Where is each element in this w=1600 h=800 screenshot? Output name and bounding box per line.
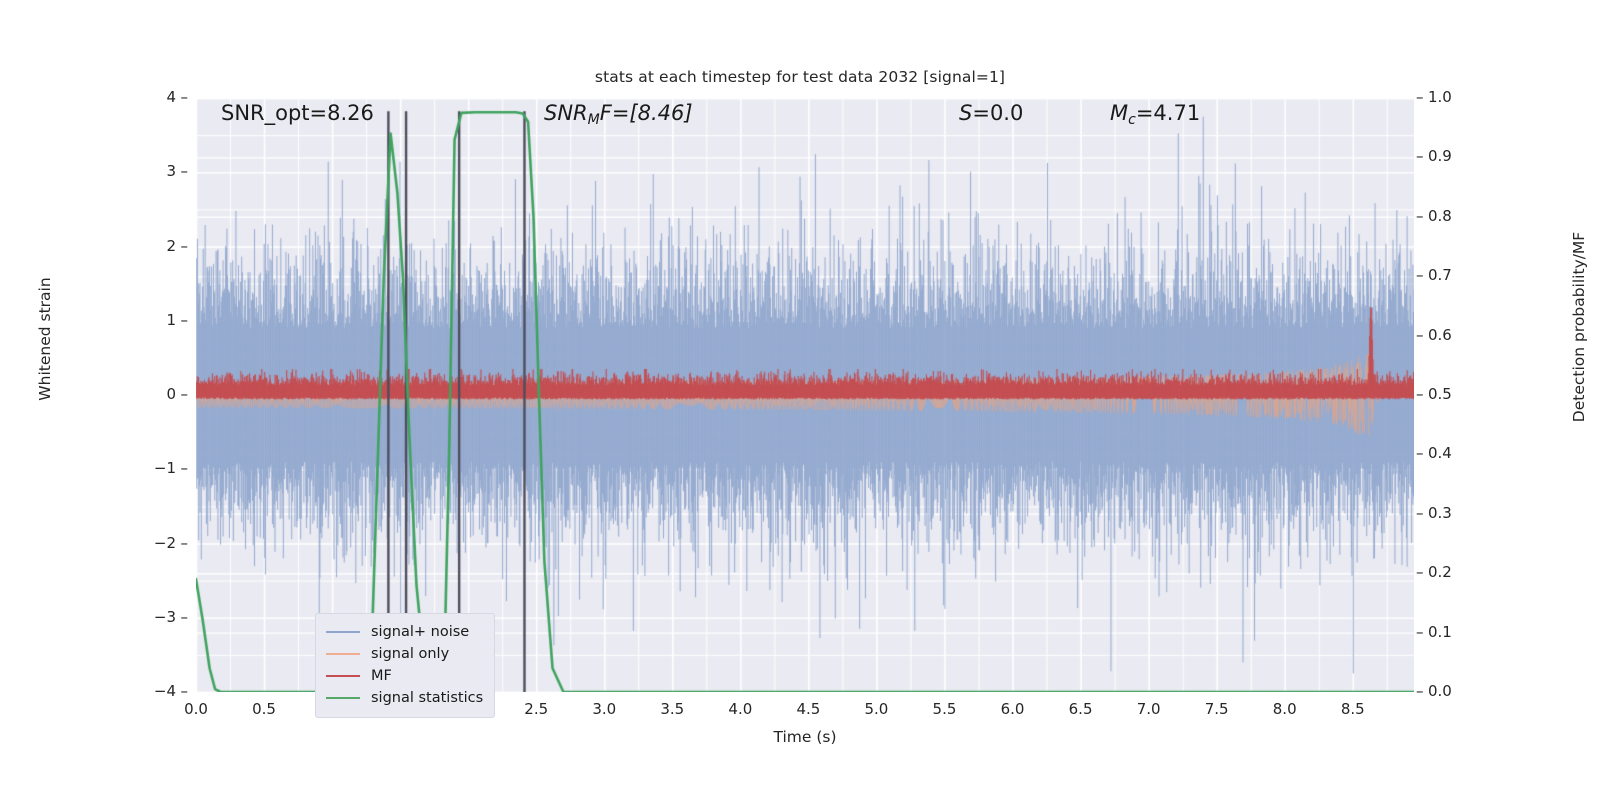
legend-item[interactable]: MF: [326, 665, 484, 687]
legend-label: signal only: [371, 646, 449, 662]
annotation-s: S=0.0: [959, 101, 1023, 125]
y-tick-left: −1–: [0, 459, 188, 477]
y-tick-left: 2–: [0, 237, 188, 255]
legend-swatch: [326, 653, 360, 655]
y-tick-left: −2–: [0, 534, 188, 552]
x-tick: 8.5: [1313, 700, 1393, 718]
legend-item[interactable]: signal only: [326, 643, 484, 665]
y-tick-right: –0.7: [1416, 266, 1600, 284]
page-title: stats at each timestep for test data 203…: [0, 68, 1600, 86]
annotation-mc-sub: c: [1128, 112, 1136, 128]
legend-swatch: [326, 631, 360, 633]
y-axis-label-left: Whitened strain: [36, 189, 54, 489]
y-tick-right: –0.4: [1416, 444, 1600, 462]
y-tick-left: 0–: [0, 385, 188, 403]
y-tick-right: –1.0: [1416, 88, 1600, 106]
legend-label: signal+ noise: [371, 624, 469, 640]
y-tick-right: –0.0: [1416, 682, 1600, 700]
legend-label: signal statistics: [371, 690, 483, 706]
legend-swatch: [326, 697, 360, 699]
plot-area: [196, 98, 1414, 692]
legend-swatch: [326, 675, 360, 677]
y-tick-left: 3–: [0, 162, 188, 180]
chart-screenshot: stats at each timestep for test data 203…: [0, 0, 1600, 800]
annotation-snr-mf-prefix: SNR: [544, 101, 588, 125]
annotation-snr-mf: SNRMF=[8.46]: [544, 101, 693, 128]
legend-item[interactable]: signal+ noise: [326, 621, 484, 643]
y-tick-right: –0.9: [1416, 147, 1600, 165]
annotation-mc-rest: =4.71: [1136, 101, 1200, 125]
x-axis-label: Time (s): [196, 728, 1414, 746]
annotation-snr-mf-sub: M: [588, 112, 600, 128]
y-tick-left: 1–: [0, 311, 188, 329]
y-tick-right: –0.6: [1416, 326, 1600, 344]
annotation-s-prefix: S: [959, 101, 972, 125]
annotation-snr-mf-rest: F=[8.46]: [600, 101, 693, 125]
y-tick-left: 4–: [0, 88, 188, 106]
y-tick-left: −3–: [0, 608, 188, 626]
annotation-mc-prefix: M: [1110, 101, 1128, 125]
y-tick-right: –0.2: [1416, 563, 1600, 581]
y-tick-right: –0.8: [1416, 207, 1600, 225]
plot-canvas: [196, 98, 1414, 692]
legend-label: MF: [371, 668, 392, 684]
annotation-snr-opt: SNR_opt=8.26: [221, 101, 374, 125]
y-tick-right: –0.1: [1416, 623, 1600, 641]
y-tick-left: −4–: [0, 682, 188, 700]
annotation-mc: Mc=4.71: [1110, 101, 1200, 128]
legend: signal+ noisesignal onlyMFsignal statist…: [315, 613, 495, 718]
annotation-s-rest: =0.0: [972, 101, 1023, 125]
y-tick-right: –0.3: [1416, 504, 1600, 522]
y-tick-right: –0.5: [1416, 385, 1600, 403]
legend-item[interactable]: signal statistics: [326, 687, 484, 709]
